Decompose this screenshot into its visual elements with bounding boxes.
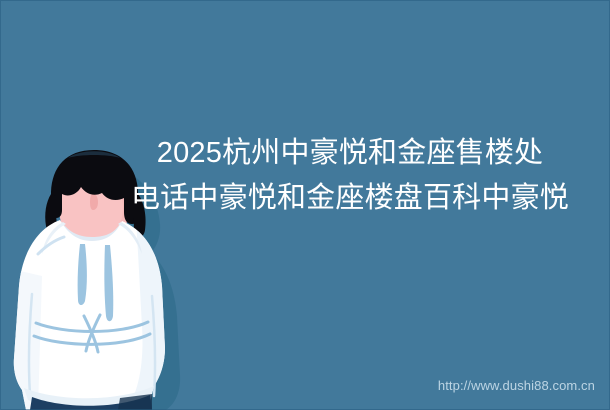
banner-image: 2025杭州中豪悦和金座售楼处 电话中豪悦和金座楼盘百科中豪悦 http://w… <box>0 0 610 410</box>
headline-line-2: 电话中豪悦和金座楼盘百科中豪悦 <box>95 176 605 221</box>
hoodie <box>10 220 168 410</box>
headline-text: 2025杭州中豪悦和金座售楼处 电话中豪悦和金座楼盘百科中豪悦 <box>95 131 605 221</box>
headline-line-1: 2025杭州中豪悦和金座售楼处 <box>95 131 605 176</box>
source-url-watermark: http://www.dushi88.com.cn <box>438 379 595 393</box>
